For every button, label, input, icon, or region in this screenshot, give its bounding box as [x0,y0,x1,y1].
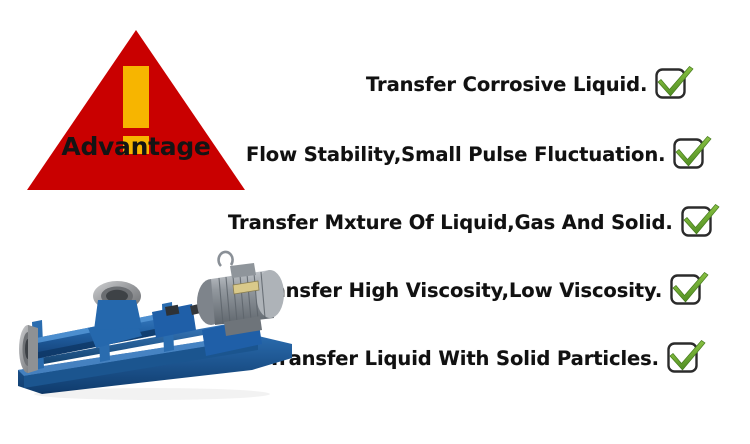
feature-text: Transfer High Viscosity,Low Viscosity. [252,279,662,302]
suction-flange [19,325,38,373]
green-check-box-icon [663,335,709,381]
motor-lifting-eye [219,252,233,266]
green-check-box-icon [651,61,697,107]
advantage-feature-banner: Advantage Transfer Corrosive Liquid. [0,0,750,444]
feature-text: Transfer Corrosive Liquid. [366,73,647,96]
green-check-box-icon [669,131,715,177]
feature-row: Transfer Mxture Of Liquid,Gas And Solid. [228,200,723,244]
green-check-box-icon [666,267,712,313]
feature-row: Transfer Liquid With Solid Particles. [268,336,709,380]
feature-row: Flow Stability,Small Pulse Fluctuation. [246,132,715,176]
progressive-cavity-screw-pump-photo [2,218,298,404]
feature-row: Transfer High Viscosity,Low Viscosity. [252,268,712,312]
feature-row: Transfer Corrosive Liquid. [366,62,697,106]
green-check-box-icon [677,199,723,245]
electric-motor [197,252,284,336]
feature-text: Transfer Liquid With Solid Particles. [268,347,659,370]
feature-text: Flow Stability,Small Pulse Fluctuation. [246,143,665,166]
